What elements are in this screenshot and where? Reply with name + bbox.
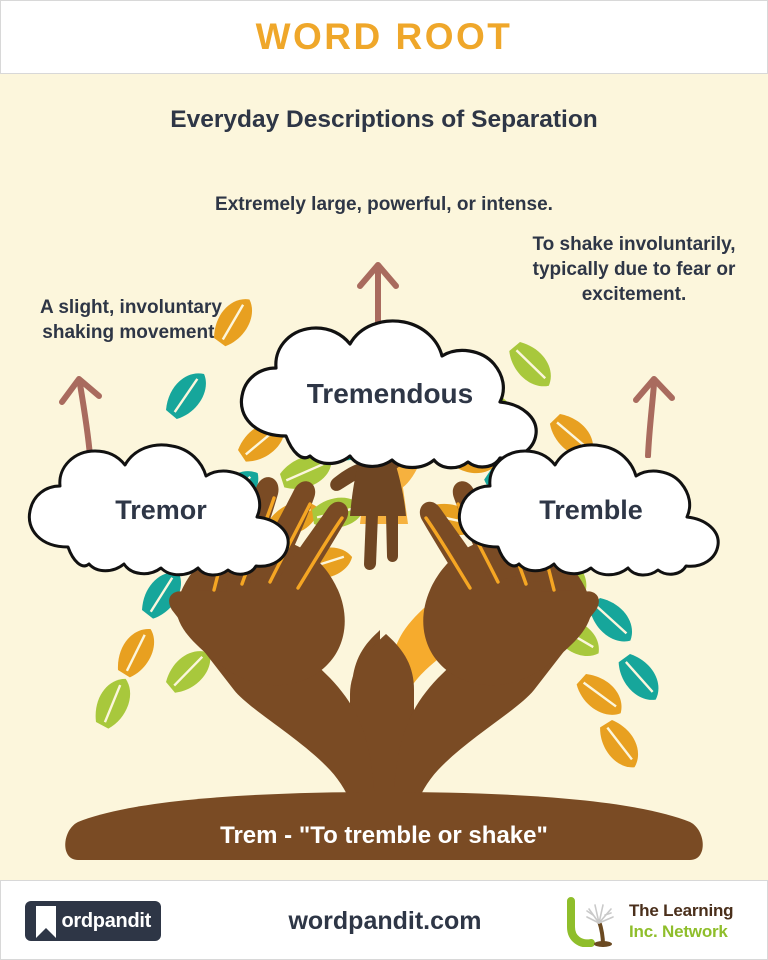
cloud-label-tremendous: Tremendous	[307, 378, 473, 410]
tln-logo-text: The Learning Inc. Network	[629, 900, 733, 943]
cloud-tremble[interactable]: Tremble	[452, 443, 730, 577]
cloud-label-tremble: Tremble	[539, 495, 643, 526]
cloud-tremor[interactable]: Tremor	[22, 443, 300, 577]
header-bar: WORD ROOT	[0, 0, 768, 74]
cloud-label-tremor: Tremor	[115, 495, 207, 526]
the-learning-inc-network-logo[interactable]: The Learning Inc. Network	[563, 897, 743, 947]
footer-bar: ordpandit wordpandit.com The Learning In…	[0, 880, 768, 960]
tree-u-icon	[563, 897, 623, 947]
infographic-page: WORD ROOT Everyday Descriptions of Separ…	[0, 0, 768, 960]
page-title: WORD ROOT	[256, 16, 513, 58]
tln-line-1: The Learning	[629, 900, 733, 921]
tln-line-2: Inc. Network	[629, 921, 733, 942]
root-word-label: Trem - "To tremble or shake"	[0, 822, 768, 850]
